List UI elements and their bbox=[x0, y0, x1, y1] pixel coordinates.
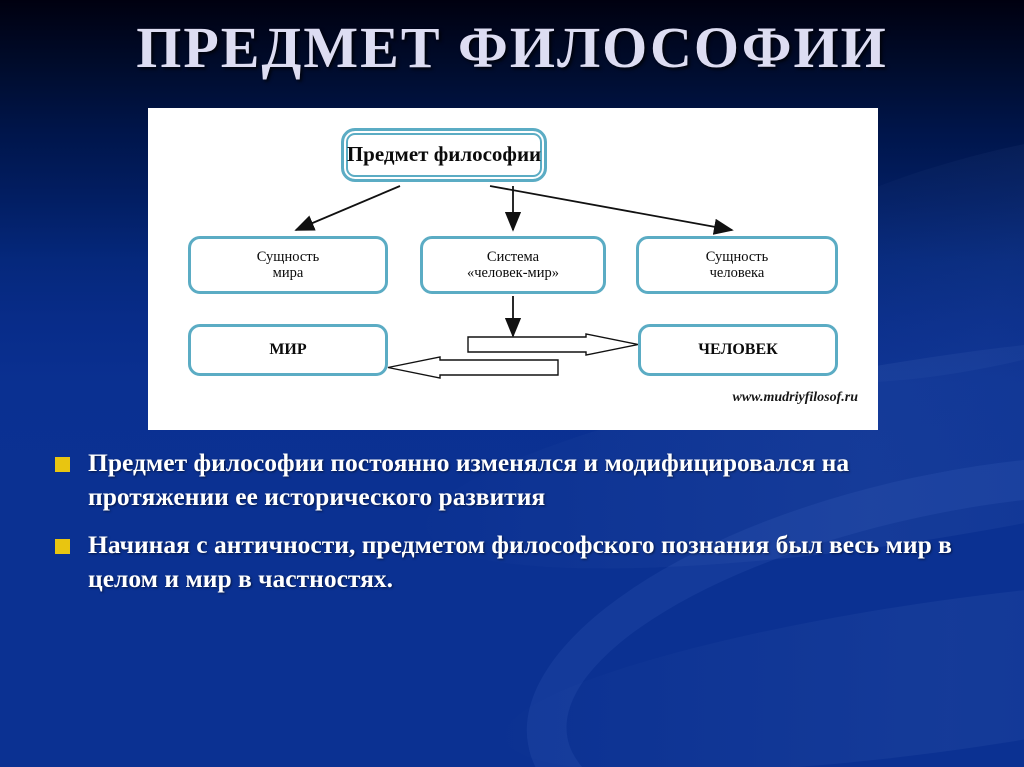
diagram-node-sistema[interactable]: Система «человек-мир» bbox=[420, 236, 606, 294]
line-2: мира bbox=[273, 265, 304, 281]
block-arrow-mir-to-chelovek bbox=[468, 334, 638, 355]
diagram-node-chelovek[interactable]: ЧЕЛОВЕК bbox=[638, 324, 838, 376]
diagram-node-sushnost-cheloveka-label: Сущность человека bbox=[706, 249, 768, 281]
bullet-list: Предмет философии постоянно изменялся и … bbox=[55, 446, 960, 610]
bullet-item-2: Начиная с античности, предметом философс… bbox=[55, 528, 960, 596]
diagram-watermark: www.mudriyfilosof.ru bbox=[578, 390, 858, 406]
arrow-root-to-sushnost-mira bbox=[296, 186, 400, 230]
diagram-node-mir-label: МИР bbox=[269, 341, 306, 359]
square-bullet-icon bbox=[55, 539, 70, 554]
line-1: Сущность bbox=[706, 249, 768, 265]
diagram-node-sushnost-mira[interactable]: Сущность мира bbox=[188, 236, 388, 294]
slide-title: ПРЕДМЕТ ФИЛОСОФИИ bbox=[0, 14, 1024, 81]
diagram-node-sushnost-mira-label: Сущность мира bbox=[257, 249, 319, 281]
diagram-node-root[interactable]: Предмет философии bbox=[341, 128, 547, 182]
line-2: «человек-мир» bbox=[467, 265, 559, 281]
diagram-panel: Предмет философии Сущность мира Система … bbox=[148, 108, 878, 430]
diagram-node-mir[interactable]: МИР bbox=[188, 324, 388, 376]
arrow-root-to-sushnost-cheloveka bbox=[490, 186, 732, 230]
bullet-item-1-text: Предмет философии постоянно изменялся и … bbox=[88, 446, 960, 514]
diagram-node-chelovek-label: ЧЕЛОВЕК bbox=[698, 341, 778, 359]
block-arrow-chelovek-to-mir bbox=[388, 357, 558, 378]
diagram-node-sistema-label: Система «человек-мир» bbox=[467, 249, 559, 281]
diagram-node-sushnost-cheloveka[interactable]: Сущность человека bbox=[636, 236, 838, 294]
bullet-item-1: Предмет философии постоянно изменялся и … bbox=[55, 446, 960, 514]
diagram-node-root-label: Предмет философии bbox=[347, 143, 541, 167]
line-2: человека bbox=[710, 265, 765, 281]
square-bullet-icon bbox=[55, 457, 70, 472]
bullet-item-2-text: Начиная с античности, предметом философс… bbox=[88, 528, 960, 596]
line-1: Сущность bbox=[257, 249, 319, 265]
line-1: Система bbox=[487, 249, 539, 265]
